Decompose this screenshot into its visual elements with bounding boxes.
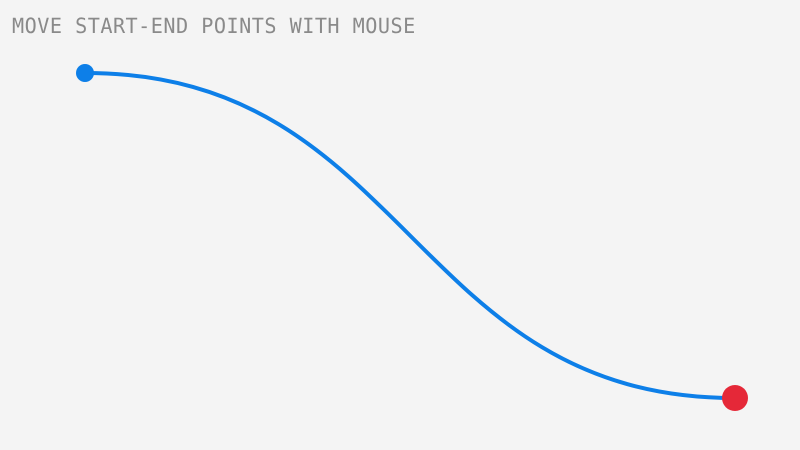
bezier-curve-app: MOVE START-END POINTS WITH MOUSE (0, 0, 800, 450)
curve-canvas[interactable] (0, 0, 800, 450)
bezier-curve (85, 73, 735, 398)
start-point-handle[interactable] (76, 64, 94, 82)
end-point-handle[interactable] (722, 385, 748, 411)
